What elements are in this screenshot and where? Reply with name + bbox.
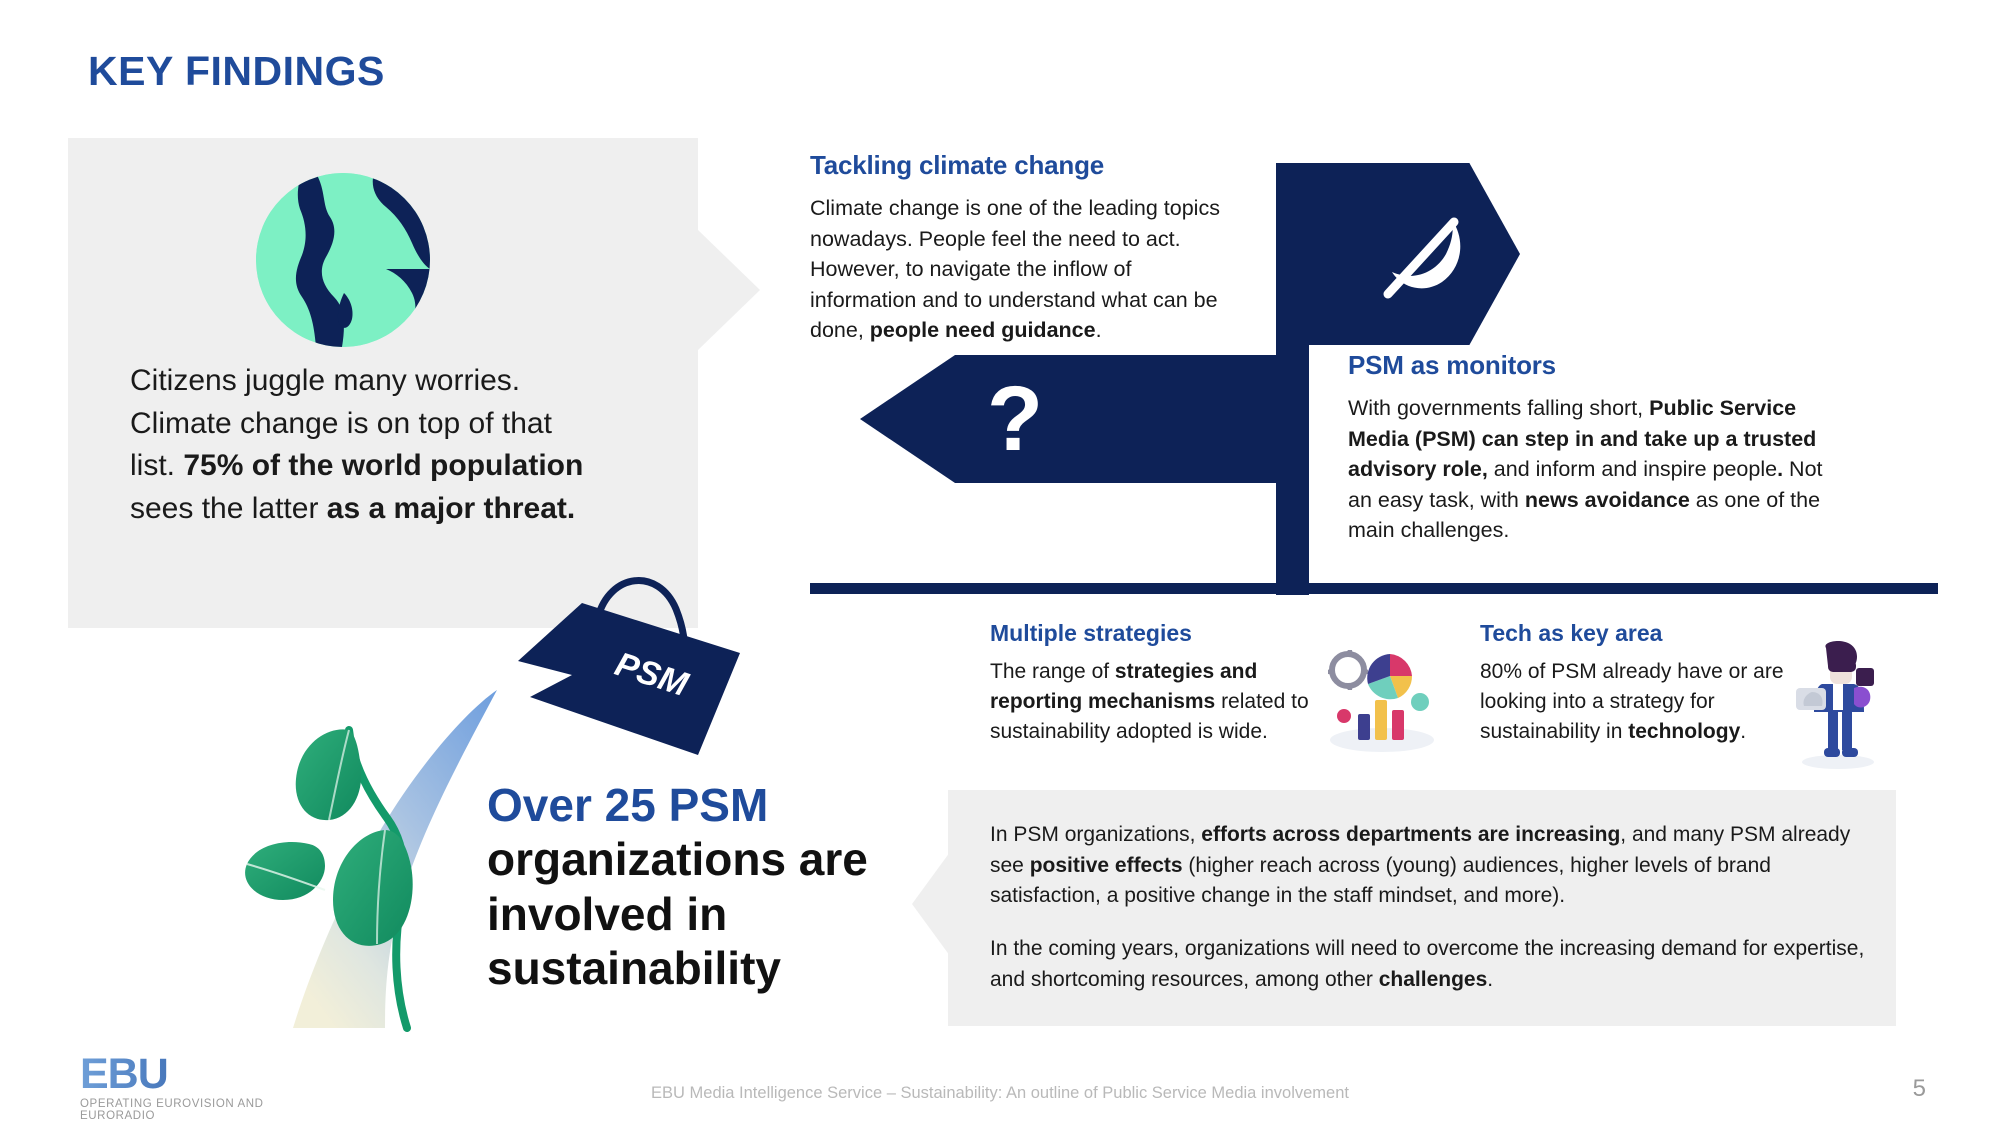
page-title: KEY FINDINGS [88, 48, 385, 95]
section-tech-as-key-area: Tech as key area 80% of PSM already have… [1480, 620, 1790, 746]
section-multiple-strategies: Multiple strategies The range of strateg… [990, 620, 1310, 746]
signpost-ground-line [810, 583, 1938, 594]
page-number: 5 [1913, 1075, 1926, 1103]
footer-credit: EBU Media Intelligence Service – Sustain… [0, 1084, 2000, 1103]
slide-root: KEY FINDINGS Citizens juggle many worrie… [0, 0, 2000, 1125]
section-heading-monitors: PSM as monitors [1348, 350, 1828, 381]
charts-analytics-icon [1320, 640, 1440, 758]
section-heading-strategies: Multiple strategies [990, 620, 1310, 647]
left-callout-text: Citizens juggle many worries. Climate ch… [130, 360, 600, 530]
bottom-callout-arrow [912, 852, 950, 956]
question-mark-icon: ? [950, 355, 1080, 483]
section-body-strategies: The range of strategies and reporting me… [990, 657, 1310, 746]
section-heading-climate: Tackling climate change [810, 150, 1240, 181]
section-tackling-climate-change: Tackling climate change Climate change i… [810, 150, 1240, 346]
globe-icon [256, 173, 430, 347]
section-body-tech: 80% of PSM already have or are looking i… [1480, 657, 1790, 746]
section-body-climate: Climate change is one of the leading top… [810, 193, 1240, 346]
headline-over-25-psm: Over 25 PSM organizations are involved i… [487, 778, 917, 995]
left-callout-arrow [698, 230, 760, 350]
person-with-device-icon [1792, 640, 1884, 770]
section-psm-as-monitors: PSM as monitors With governments falling… [1348, 350, 1828, 546]
bottom-paragraph-2: In the coming years, organizations will … [990, 934, 1870, 995]
psm-bag-icon: PSM [500, 575, 760, 755]
plant-growth-illustration [225, 690, 515, 1035]
bottom-paragraph-1: In PSM organizations, efforts across dep… [990, 820, 1870, 912]
bottom-callout-text: In PSM organizations, efforts across dep… [990, 820, 1870, 995]
section-body-monitors: With governments falling short, Public S… [1348, 393, 1828, 546]
leaf-icon [1380, 210, 1472, 302]
headline-black-part: organizations are involved in sustainabi… [487, 833, 868, 994]
headline-blue-part: Over 25 PSM [487, 779, 768, 831]
section-heading-tech: Tech as key area [1480, 620, 1790, 647]
